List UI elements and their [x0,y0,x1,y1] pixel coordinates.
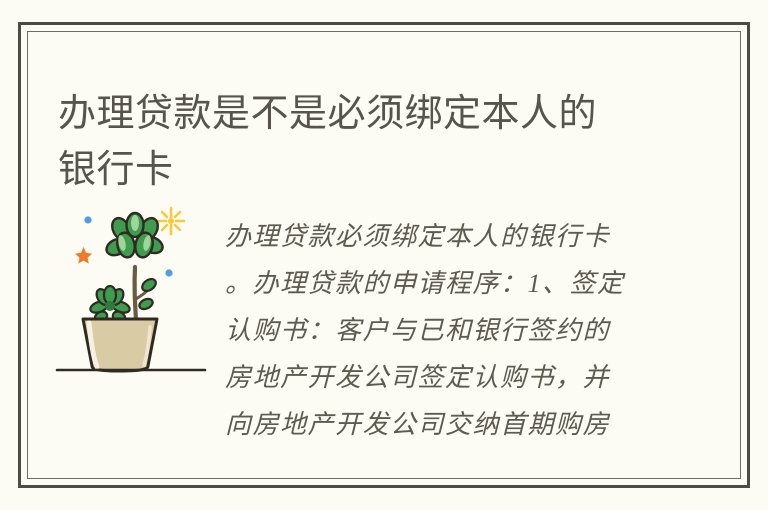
page-title: 办理贷款是不是必须绑定本人的 银行卡 [58,86,678,198]
orange-star-left-icon [75,247,92,264]
article-content: 办理贷款是不是必须绑定本人的 银行卡 [27,31,741,479]
article-body-text: 办理贷款必须绑定本人的银行卡 。办理贷款的申请程序：1、签定 认购书：客户与已和… [225,213,670,448]
plant-top-flower [104,213,165,259]
stem-side-leaves [138,277,158,312]
potted-plant-illustration [55,199,220,374]
plant-stem [135,267,150,320]
plant-pot [83,319,157,371]
article-page: 办理贷款是不是必须绑定本人的 银行卡 [0,0,768,510]
blue-dot-right-icon [165,269,172,276]
blue-dot-top-left-icon [84,216,91,223]
yellow-starburst-top-right-icon [158,208,184,234]
